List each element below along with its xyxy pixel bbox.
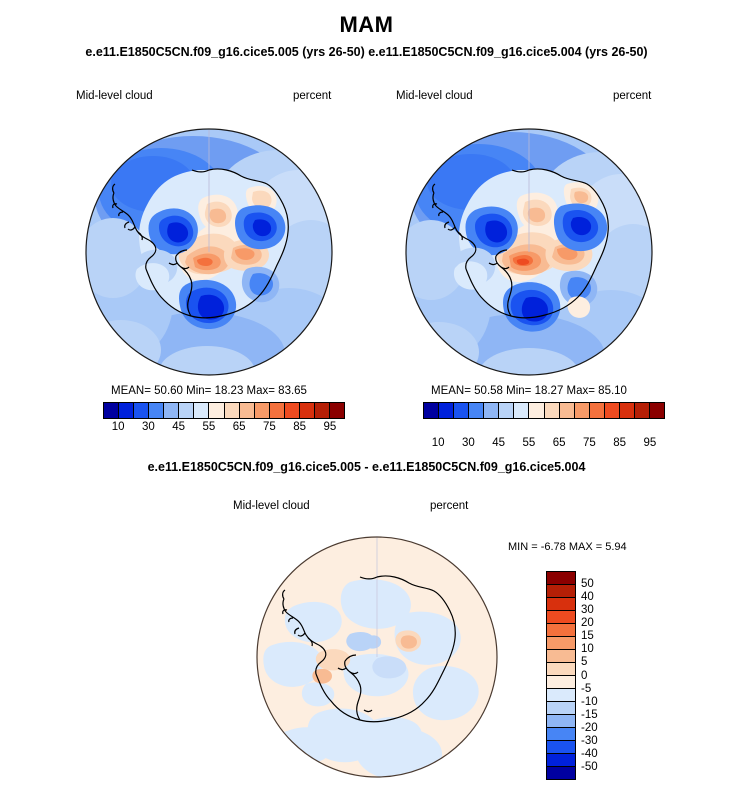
right-colorbar-cell-13 (620, 403, 635, 418)
diff-map-antarctic (254, 534, 500, 780)
right-panel-variable-label: Mid-level cloud (396, 90, 473, 102)
diff-colorbar-cell-12 (547, 728, 575, 741)
figure-case-title: e.e11.E1850C5CN.f09_g16.cice5.005 (yrs 2… (0, 45, 733, 59)
right-colorbar-cell-9 (560, 403, 575, 418)
left-colorbar-cell-3 (149, 403, 164, 418)
diff-colorbar-tick--10: -10 (581, 696, 598, 708)
right-colorbar-tick-75: 75 (583, 437, 596, 449)
diff-colorbar-tick-40: 40 (581, 591, 594, 603)
diff-panel-minmax: MIN = -6.78 MAX = 5.94 (508, 541, 627, 553)
right-colorbar-cell-3 (469, 403, 484, 418)
diff-colorbar-cell-7 (547, 663, 575, 676)
right-colorbar-tick-10: 10 (432, 437, 445, 449)
diff-colorbar-cell-5 (547, 637, 575, 650)
left-colorbar-cell-5 (179, 403, 194, 418)
diff-colorbar-cell-11 (547, 715, 575, 728)
diff-colorbar-tick-20: 20 (581, 617, 594, 629)
right-map-antarctic (403, 126, 655, 378)
diff-colorbar-cell-15 (547, 767, 575, 779)
diff-colorbar-tick-10: 10 (581, 643, 594, 655)
diff-colorbar-cell-1 (547, 585, 575, 598)
right-colorbar-tick-65: 65 (553, 437, 566, 449)
diff-colorbar-tick--40: -40 (581, 748, 598, 760)
left-colorbar-tick-75: 75 (263, 421, 276, 433)
diff-panel-variable-label: Mid-level cloud (233, 500, 310, 512)
left-colorbar-cell-4 (164, 403, 179, 418)
diff-colorbar-tick--5: -5 (581, 683, 591, 695)
left-colorbar-cell-9 (240, 403, 255, 418)
right-colorbar-tick-95: 95 (643, 437, 656, 449)
left-panel-stats: MEAN= 50.60 Min= 18.23 Max= 83.65 (83, 385, 335, 397)
diff-colorbar-tick-15: 15 (581, 630, 594, 642)
diff-colorbar-tick-5: 5 (581, 656, 587, 668)
diff-colorbar-cell-9 (547, 689, 575, 702)
left-colorbar-tick-45: 45 (172, 421, 185, 433)
left-colorbar[interactable] (103, 402, 345, 419)
diff-colorbar-tick--50: -50 (581, 761, 598, 773)
left-colorbar-cell-1 (119, 403, 134, 418)
left-colorbar-cell-14 (315, 403, 330, 418)
left-colorbar-cell-0 (104, 403, 119, 418)
diff-colorbar-cell-2 (547, 598, 575, 611)
right-colorbar-cell-14 (635, 403, 650, 418)
right-colorbar-cell-6 (514, 403, 529, 418)
right-colorbar-tick-30: 30 (462, 437, 475, 449)
left-colorbar-cell-13 (300, 403, 315, 418)
left-colorbar-cell-15 (330, 403, 344, 418)
left-colorbar-cell-7 (209, 403, 224, 418)
diff-colorbar-cell-13 (547, 741, 575, 754)
diff-colorbar-cell-8 (547, 676, 575, 689)
left-colorbar-tick-10: 10 (112, 421, 125, 433)
figure-main-title: MAM (0, 12, 733, 38)
diff-colorbar[interactable] (546, 571, 576, 780)
diff-colorbar-cell-3 (547, 611, 575, 624)
right-colorbar-tick-85: 85 (613, 437, 626, 449)
right-colorbar-tick-45: 45 (492, 437, 505, 449)
right-colorbar-tick-55: 55 (522, 437, 535, 449)
diff-colorbar-tick--15: -15 (581, 709, 598, 721)
left-colorbar-cell-12 (285, 403, 300, 418)
right-colorbar-cell-4 (484, 403, 499, 418)
left-colorbar-cell-11 (270, 403, 285, 418)
diff-colorbar-cell-0 (547, 572, 575, 585)
diff-colorbar-tick--30: -30 (581, 735, 598, 747)
diff-colorbar-cell-10 (547, 702, 575, 715)
left-colorbar-tick-30: 30 (142, 421, 155, 433)
left-colorbar-ticklabels: 1030455565758595 (103, 421, 345, 437)
diff-colorbar-tick--20: -20 (581, 722, 598, 734)
left-colorbar-tick-55: 55 (202, 421, 215, 433)
right-panel-stats: MEAN= 50.58 Min= 18.27 Max= 85.10 (403, 385, 655, 397)
right-colorbar[interactable] (423, 402, 665, 419)
diff-colorbar-cell-4 (547, 624, 575, 637)
left-colorbar-tick-65: 65 (233, 421, 246, 433)
diff-colorbar-tick-30: 30 (581, 604, 594, 616)
right-colorbar-cell-7 (529, 403, 544, 418)
diff-colorbar-cell-6 (547, 650, 575, 663)
right-colorbar-ticklabels: 1030455565758595 (423, 437, 665, 453)
right-colorbar-cell-5 (499, 403, 514, 418)
right-colorbar-cell-10 (575, 403, 590, 418)
right-colorbar-cell-0 (424, 403, 439, 418)
right-colorbar-cell-2 (454, 403, 469, 418)
figure-diff-title: e.e11.E1850C5CN.f09_g16.cice5.005 - e.e1… (0, 460, 733, 474)
right-colorbar-cell-15 (650, 403, 664, 418)
left-colorbar-cell-2 (134, 403, 149, 418)
diff-panel-units-label: percent (430, 500, 468, 512)
left-colorbar-tick-85: 85 (293, 421, 306, 433)
diff-colorbar-cell-14 (547, 754, 575, 767)
left-colorbar-cell-6 (194, 403, 209, 418)
left-panel-variable-label: Mid-level cloud (76, 90, 153, 102)
left-panel-units-label: percent (293, 90, 331, 102)
left-colorbar-tick-95: 95 (323, 421, 336, 433)
right-colorbar-cell-11 (590, 403, 605, 418)
right-colorbar-cell-1 (439, 403, 454, 418)
diff-colorbar-tick-50: 50 (581, 578, 594, 590)
right-colorbar-cell-8 (545, 403, 560, 418)
left-map-antarctic (83, 126, 335, 378)
left-colorbar-cell-10 (255, 403, 270, 418)
left-colorbar-cell-8 (225, 403, 240, 418)
right-colorbar-cell-12 (605, 403, 620, 418)
diff-colorbar-tick-0: 0 (581, 670, 587, 682)
right-panel-units-label: percent (613, 90, 651, 102)
